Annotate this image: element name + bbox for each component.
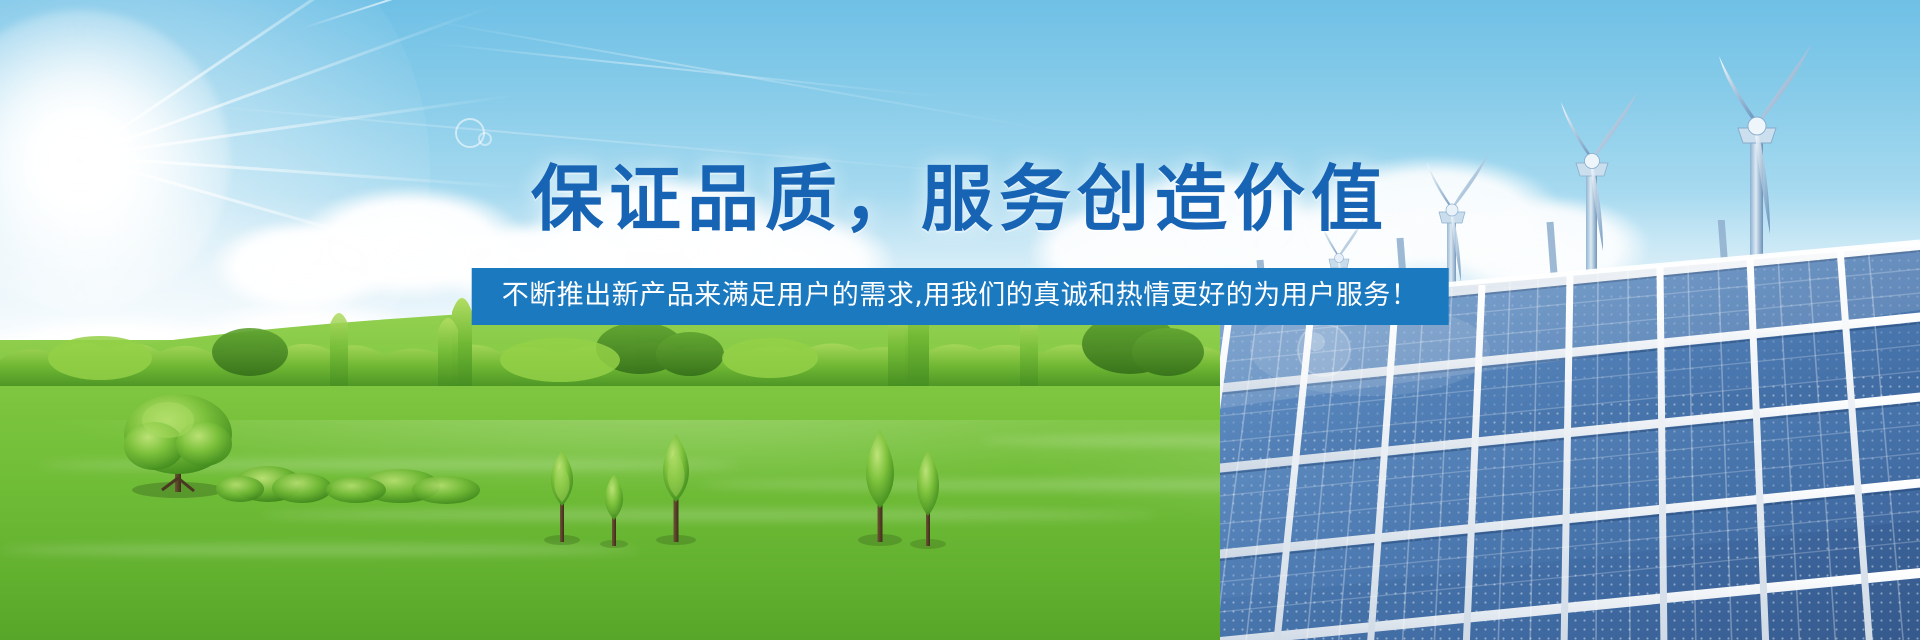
subtitle-text: 不断推出新产品来满足用户的需求,用我们的真诚和热情更好的为用户服务！ [502, 281, 1419, 310]
foreground-trees [0, 380, 1000, 550]
hero-banner: 保证品质，服务创造价值 不断推出新产品来满足用户的需求,用我们的真诚和热情更好的… [0, 0, 1920, 640]
subtitle-banner-bar: 不断推出新产品来满足用户的需求,用我们的真诚和热情更好的为用户服务！ [472, 268, 1449, 325]
page-title: 保证品质，服务创造价值 [0, 163, 1920, 235]
